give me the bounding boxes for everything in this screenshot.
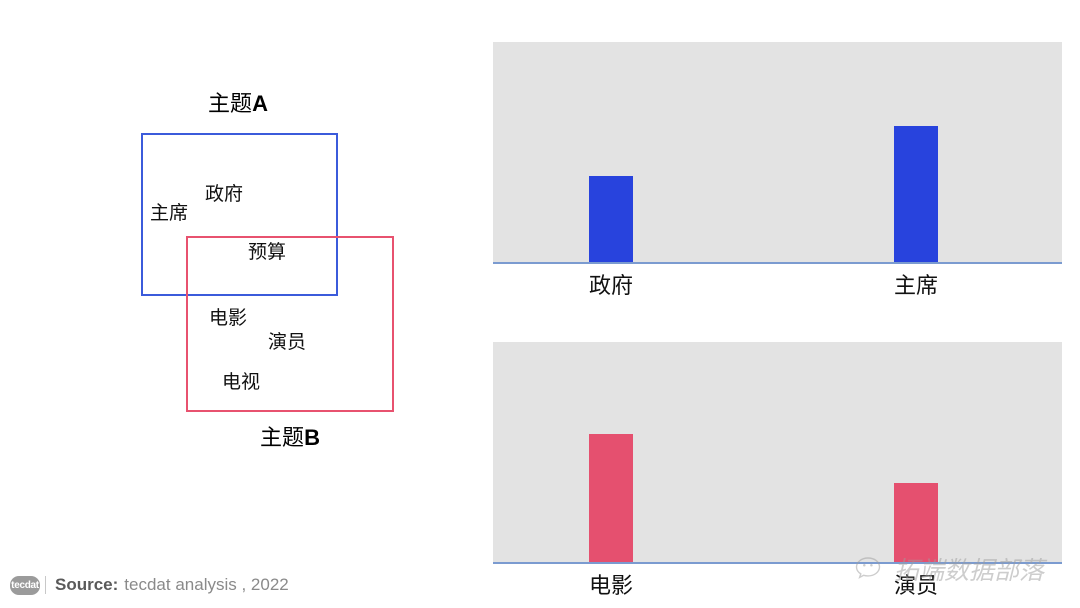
bar-chart-topic-b: 电影 演员 (493, 342, 1062, 604)
source-text: tecdat analysis , 2022 (124, 575, 288, 595)
footer-divider (45, 576, 46, 594)
source-footer: tecdat Source: tecdat analysis , 2022 (10, 572, 289, 598)
x-axis-line-topic-b (493, 562, 1062, 564)
plot-area-topic-b (493, 342, 1062, 562)
tecdat-logo-icon: tecdat (10, 576, 40, 595)
plot-area-topic-a (493, 42, 1062, 262)
x-tick-label-topic-a-1: 主席 (836, 268, 996, 300)
x-tick-label-topic-a-0: 政府 (531, 268, 691, 300)
venn-title-topic-b-letter: B (304, 425, 320, 450)
bar-topic-a-1 (894, 126, 938, 262)
bar-topic-a-0 (589, 176, 633, 262)
venn-term-yanyuan: 演员 (268, 327, 306, 354)
venn-term-zhuxi: 主席 (150, 198, 188, 225)
venn-title-topic-b: 主题B (188, 420, 392, 452)
bar-topic-b-0 (589, 434, 633, 562)
venn-title-topic-a: 主题A (140, 86, 336, 118)
venn-term-zhengfu: 政府 (205, 179, 243, 206)
x-tick-label-topic-b-0: 电影 (531, 568, 691, 600)
venn-term-yusuan: 预算 (248, 237, 286, 264)
venn-term-dianshi: 电视 (222, 367, 260, 394)
venn-title-topic-a-letter: A (252, 91, 268, 116)
bar-topic-b-1 (894, 483, 938, 562)
venn-term-dianying: 电影 (209, 303, 247, 330)
slide-canvas: 主题A 主席 政府 预算 电影 演员 电视 主题B 政府 主席 电影 演员 te… (0, 0, 1080, 608)
x-axis-line-topic-a (493, 262, 1062, 264)
venn-diagram: 主题A 主席 政府 预算 电影 演员 电视 主题B (0, 0, 470, 470)
venn-title-topic-b-cjk: 主题 (260, 425, 304, 450)
source-label: Source: (55, 575, 118, 595)
venn-title-topic-a-cjk: 主题 (208, 91, 252, 116)
x-tick-label-topic-b-1: 演员 (836, 568, 996, 600)
bar-chart-topic-a: 政府 主席 (493, 42, 1062, 304)
